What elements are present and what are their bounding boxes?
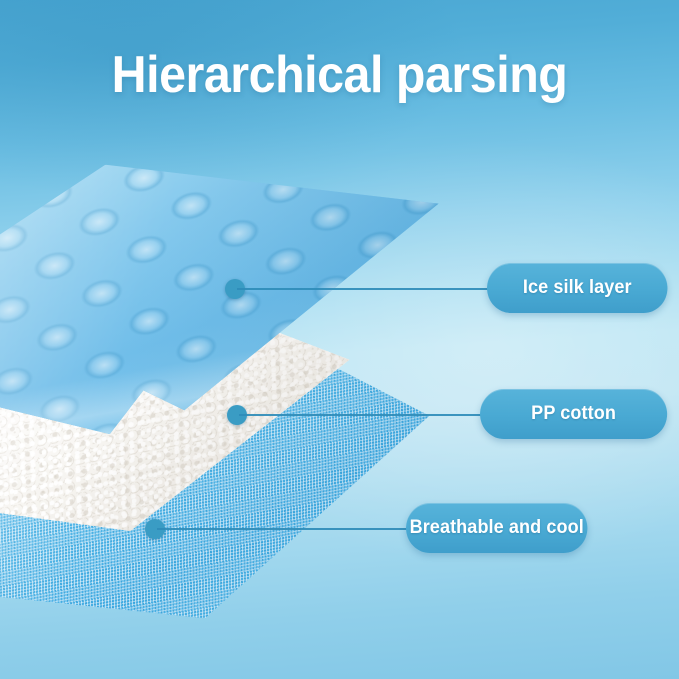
- callout-pill-ice-silk[interactable]: Ice silk layer: [487, 263, 668, 313]
- callout-pill-breathable[interactable]: Breathable and cool: [406, 503, 587, 553]
- infographic-canvas: Hierarchical parsing Ice silk layer PP c…: [0, 0, 679, 679]
- callout-leader-line-breathable: [157, 528, 412, 530]
- page-title: Hierarchical parsing: [24, 44, 655, 106]
- callout-pill-pp-cotton[interactable]: PP cotton: [480, 389, 667, 439]
- callout-leader-line-ice-silk: [237, 288, 493, 290]
- callout-leader-line-pp-cotton: [239, 414, 486, 416]
